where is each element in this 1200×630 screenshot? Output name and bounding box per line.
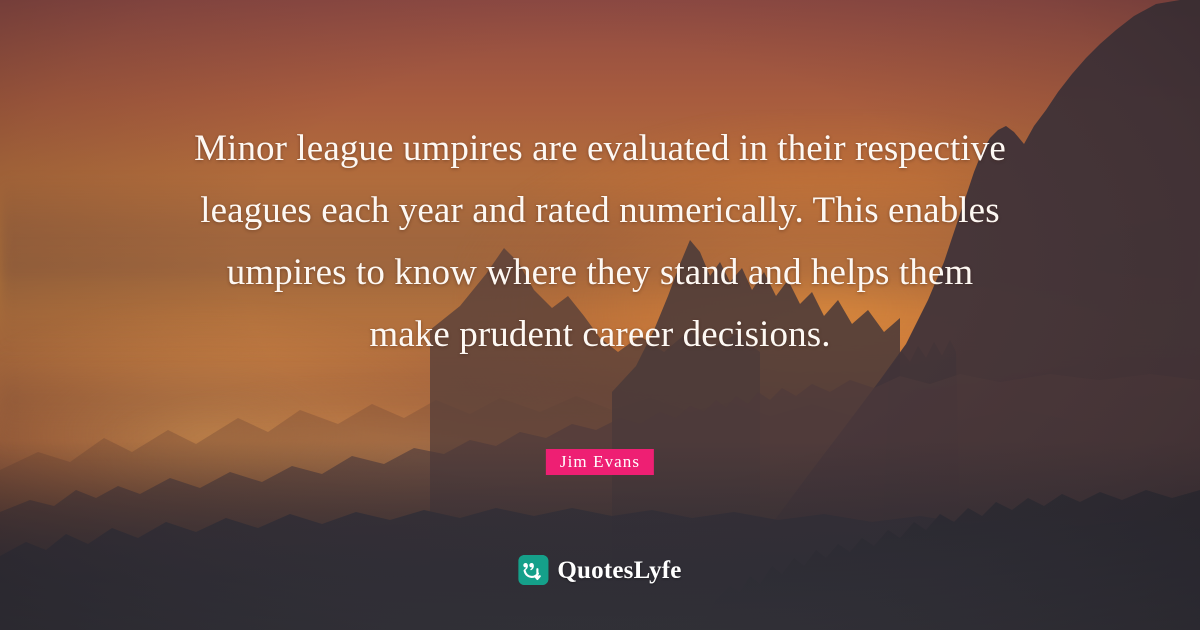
quoteslyfe-logo-icon	[518, 555, 548, 585]
author-badge[interactable]: Jim Evans	[546, 449, 654, 475]
quote-text: Minor league umpires are evaluated in th…	[190, 118, 1010, 366]
card-content: Minor league umpires are evaluated in th…	[0, 0, 1200, 630]
brand-name: QuotesLyfe	[557, 558, 681, 583]
brand-logo[interactable]: QuotesLyfe	[518, 555, 681, 585]
quote-card: Minor league umpires are evaluated in th…	[0, 0, 1200, 630]
